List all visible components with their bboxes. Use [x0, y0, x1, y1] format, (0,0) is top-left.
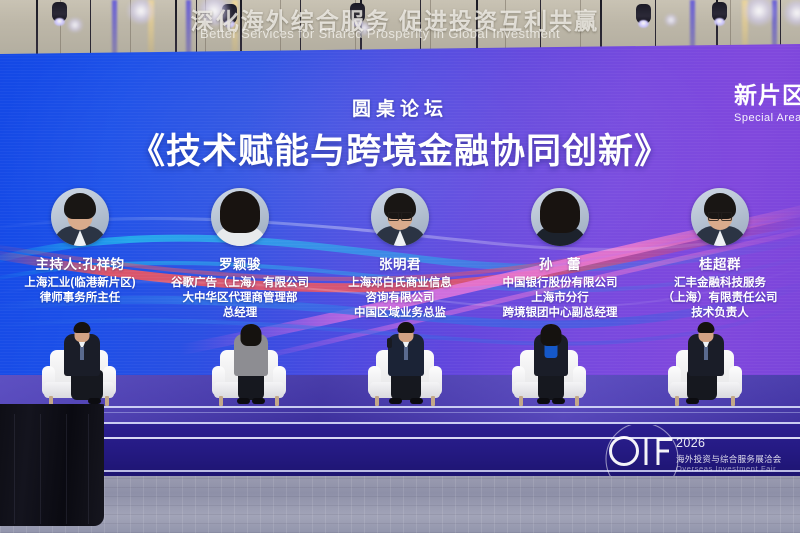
stage-seat	[668, 330, 758, 406]
conference-stage-photo: 深化海外综合服务 促进投资互利共赢 Better Services for Sh…	[0, 0, 800, 533]
panelist-affiliation: 谷歌广告（上海）有限公司 大中华区代理商管理部 总经理	[171, 276, 309, 321]
panelist-card: 桂超群 汇丰金融科技服务 （上海）有限责任公司 技术负责人	[640, 188, 800, 338]
affiliation-line: 汇丰金融科技服务	[663, 276, 778, 291]
panelist-card: 罗颖骏 谷歌广告（上海）有限公司 大中华区代理商管理部 总经理	[160, 188, 320, 338]
panelist-card: 孙 蕾 中国银行股份有限公司 上海市分行 跨境银团中心副总经理	[480, 188, 640, 338]
panelist-name: 桂超群	[699, 253, 741, 273]
affiliation-line: 技术负责人	[663, 306, 778, 321]
special-area-logo-english: Special Area	[734, 112, 800, 124]
panelist-name: 孙 蕾	[539, 253, 581, 273]
affiliation-line: （上海）有限责任公司	[663, 291, 778, 306]
affiliation-line: 中国区域业务总监	[348, 306, 452, 321]
avatar	[691, 188, 749, 246]
panelist-affiliation: 上海汇业(临港新片区) 律师事务所主任	[24, 276, 135, 306]
panelist-name: 张明君	[379, 253, 421, 273]
affiliation-line: 大中华区代理商管理部	[171, 291, 309, 306]
affiliation-line: 律师事务所主任	[24, 291, 135, 306]
panelist-name: 主持人:孔祥钧	[36, 253, 125, 273]
panelist-name: 罗颖骏	[219, 253, 261, 273]
special-area-logo-chinese: 新片区	[734, 76, 800, 110]
special-area-logo: 新片区 Special Area	[734, 76, 800, 124]
stage-seat	[512, 330, 602, 406]
forum-title: 《技术赋能与跨境金融协同创新》	[0, 123, 800, 174]
avatar	[531, 188, 589, 246]
affiliation-line: 谷歌广告（上海）有限公司	[171, 276, 309, 291]
affiliation-line: 中国银行股份有限公司	[503, 276, 618, 291]
affiliation-line: 总经理	[171, 306, 309, 321]
affiliation-line: 咨询有限公司	[348, 291, 452, 306]
panelist-affiliation: 上海邓白氏商业信息 咨询有限公司 中国区域业务总监	[348, 276, 452, 321]
forum-subtitle: 圆桌论坛	[0, 94, 800, 121]
panelist-card: 张明君 上海邓白氏商业信息 咨询有限公司 中国区域业务总监	[320, 188, 480, 338]
venue-banner: 深化海外综合服务 促进投资互利共赢 Better Services for Sh…	[0, 0, 800, 50]
affiliation-line: 跨境银团中心副总经理	[503, 306, 618, 321]
stage-seat	[368, 330, 458, 406]
affiliation-line: 上海市分行	[503, 291, 618, 306]
stage-seat	[212, 330, 302, 406]
panelist-affiliation: 中国银行股份有限公司 上海市分行 跨境银团中心副总经理	[503, 276, 618, 321]
seated-panelist	[60, 328, 104, 390]
seated-panelist	[385, 324, 427, 390]
seated-panelist	[231, 326, 271, 390]
seated-panelist	[531, 326, 571, 390]
panelist-card: 主持人:孔祥钧 上海汇业(临港新片区) 律师事务所主任	[0, 188, 160, 338]
seated-panelist	[684, 324, 728, 390]
event-logo-english: Overseas Investment Fair	[676, 464, 776, 473]
avatar	[371, 188, 429, 246]
affiliation-line: 上海汇业(临港新片区)	[24, 276, 135, 291]
panelist-affiliation: 汇丰金融科技服务 （上海）有限责任公司 技术负责人	[663, 276, 778, 321]
stage-seat	[42, 330, 132, 406]
event-logo-year: 2026	[676, 437, 705, 450]
avatar	[51, 188, 109, 246]
avatar	[211, 188, 269, 246]
venue-floor	[0, 476, 800, 533]
affiliation-line: 上海邓白氏商业信息	[348, 276, 452, 291]
panelist-list: 主持人:孔祥钧 上海汇业(临港新片区) 律师事务所主任 罗颖骏 谷歌广告（上海）…	[0, 188, 800, 338]
venue-banner-english: Better Services for Shared Prosperity in…	[140, 26, 620, 41]
